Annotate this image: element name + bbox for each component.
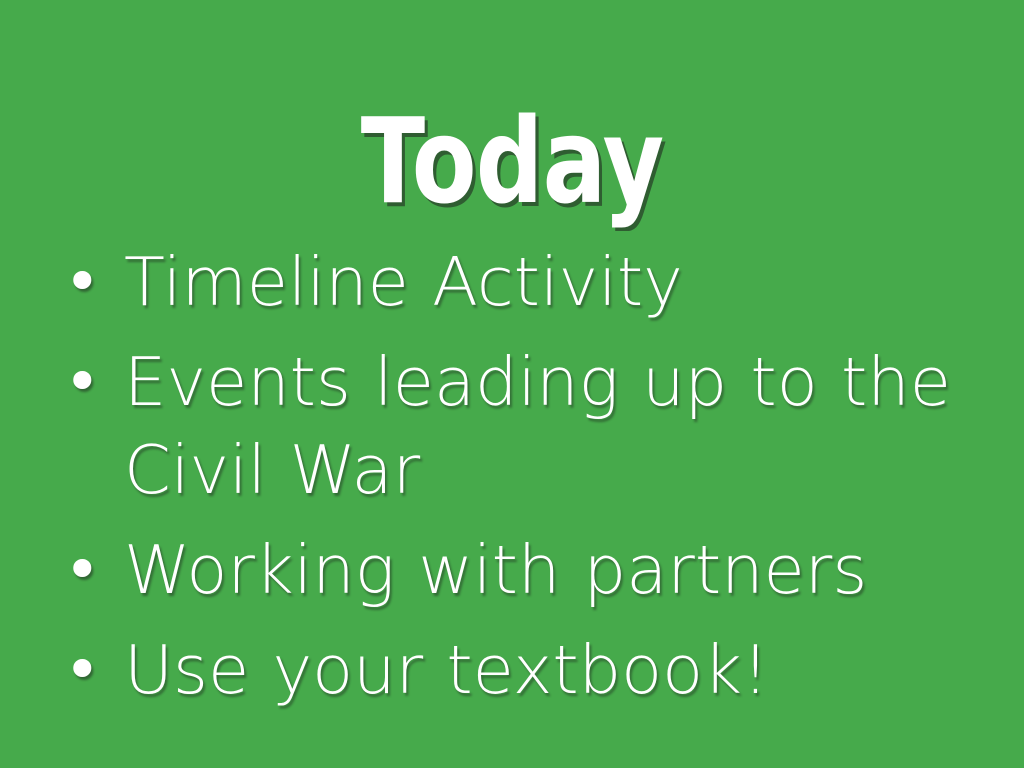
bullet-item-text: Working with partners: [124, 526, 967, 614]
bullet-item-text: Events leading up to the Civil War: [124, 338, 967, 514]
list-item: • Use your textbook!: [62, 626, 967, 714]
list-item: • Timeline Activity: [62, 238, 967, 326]
list-item: • Working with partners: [62, 526, 967, 614]
presentation-slide: Today • Timeline Activity • Events leadi…: [0, 0, 1024, 768]
bullet-point-icon: •: [62, 526, 124, 614]
bullet-point-icon: •: [62, 338, 124, 426]
bullet-item-text: Use your textbook!: [124, 626, 967, 714]
list-item: • Events leading up to the Civil War: [62, 338, 967, 514]
bullet-point-icon: •: [62, 238, 124, 326]
bullet-list: • Timeline Activity • Events leading up …: [62, 238, 967, 726]
bullet-item-text: Timeline Activity: [124, 238, 967, 326]
bullet-point-icon: •: [62, 626, 124, 714]
slide-title: Today: [102, 101, 921, 221]
